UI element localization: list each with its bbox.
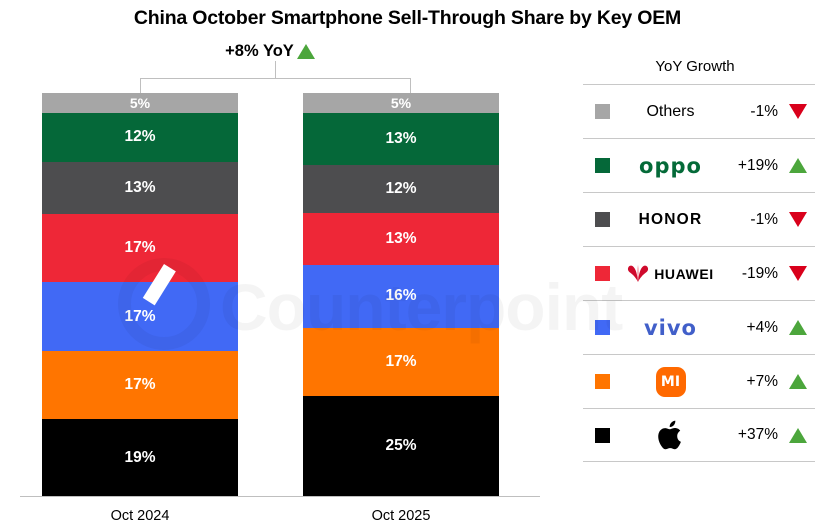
legend-trend-arrow [783,104,813,119]
legend: YoY Growth Others-1%oppo+19%HONOR-1%HUAW… [583,58,815,462]
legend-row-huawei[interactable]: HUAWEI-19% [583,246,815,300]
legend-yoy-growth-value: +19% [731,157,783,175]
legend-brand-label: vivo [644,316,697,340]
triangle-up-icon [789,428,807,443]
legend-row-vivo[interactable]: vivo+4% [583,300,815,354]
bar-segment-label: 17% [124,239,155,257]
legend-color-swatch [595,374,610,389]
bar-segment-label: 25% [385,437,416,455]
bar-segment-label: 12% [385,180,416,198]
legend-brand-label: HUAWEI [654,266,714,282]
legend-row-oppo[interactable]: oppo+19% [583,138,815,192]
legend-brand-label: MI [656,367,686,397]
x-axis-line [20,496,540,497]
legend-color-swatch [595,428,610,443]
huawei-logo-icon: HUAWEI [610,247,731,301]
chart-page: China October Smartphone Sell-Through Sh… [0,0,815,527]
yoy-bracket [140,73,411,93]
apple-mark-icon [656,417,686,453]
bar-segment-label: 5% [391,95,411,111]
bar-segment-honor: 12% [303,165,499,213]
bar-segment-xiaomi: 17% [303,328,499,396]
legend-color-swatch [595,104,610,119]
bar-segment-vivo: 17% [42,282,238,351]
legend-trend-arrow [783,266,813,281]
legend-row-apple[interactable]: +37% [583,408,815,462]
bar-segment-oppo: 12% [42,113,238,161]
triangle-up-icon [789,374,807,389]
triangle-up-icon [789,158,807,173]
bar-segment-label: 17% [385,353,416,371]
legend-color-swatch [595,212,610,227]
bracket-stem [275,61,276,78]
oppo-logo-icon: oppo [610,139,731,193]
yoy-annotation-text: +8% YoY [225,42,294,61]
triangle-up-icon [297,44,315,59]
legend-trend-arrow [783,428,813,443]
bar-segment-huawei: 13% [303,213,499,265]
yoy-annotation-label: +8% YoY [225,42,315,61]
legend-color-swatch [595,158,610,173]
bar-segment-honor: 13% [42,162,238,214]
bar-segment-others: 5% [42,93,238,113]
apple-logo-icon [610,408,731,462]
vivo-logo-icon: vivo [610,301,731,355]
huawei-flower-icon [627,264,649,283]
legend-row-others[interactable]: Others-1% [583,84,815,138]
legend-header: YoY Growth [583,58,815,84]
legend-row-honor[interactable]: HONOR-1% [583,192,815,246]
legend-yoy-growth-value: +4% [731,319,783,337]
bar-segment-xiaomi: 17% [42,351,238,420]
x-axis-label-0: Oct 2024 [42,508,238,524]
bar-segment-label: 16% [385,287,416,305]
bar-column-oct-2024: 5%12%13%17%17%17%19% [42,93,238,496]
legend-yoy-growth-value: +37% [731,426,783,444]
bar-segment-label: 12% [124,128,155,146]
xiaomi-logo-icon: MI [610,355,731,409]
legend-yoy-growth-value: -1% [731,211,783,229]
bar-segment-apple: 25% [303,396,499,496]
bar-column-oct-2025: 5%13%12%13%16%17%25% [303,93,499,496]
legend-brand-label: HONOR [639,211,703,229]
legend-yoy-growth-value: -19% [731,265,783,283]
plot-area: 5%12%13%17%17%17%19% 5%13%12%13%16%17%25… [0,93,540,503]
legend-color-swatch [595,266,610,281]
huawei-mark: HUAWEI [627,264,714,283]
legend-row-xiaomi[interactable]: MI+7% [583,354,815,408]
bar-segment-label: 13% [385,130,416,148]
page-title: China October Smartphone Sell-Through Sh… [0,7,815,30]
bar-segment-vivo: 16% [303,265,499,329]
triangle-down-icon [789,104,807,119]
yoy-annotation: +8% YoY [0,42,540,61]
bar-segment-label: 13% [385,230,416,248]
legend-brand-label: Others [646,103,694,121]
bar-segment-huawei: 17% [42,214,238,283]
legend-trend-arrow [783,212,813,227]
bar-segment-label: 17% [124,376,155,394]
bar-segment-label: 19% [124,449,155,467]
legend-color-swatch [595,320,610,335]
legend-brand-label: oppo [639,154,702,178]
bracket-left-tick [140,78,141,93]
x-axis-label-1: Oct 2025 [303,508,499,524]
legend-rows: Others-1%oppo+19%HONOR-1%HUAWEI-19%vivo+… [583,84,815,462]
triangle-down-icon [789,212,807,227]
bar-segment-apple: 19% [42,419,238,496]
legend-trend-arrow [783,320,813,335]
legend-brand-others: Others [610,85,731,139]
bar-segment-label: 17% [124,308,155,326]
legend-yoy-growth-value: -1% [731,103,783,121]
legend-yoy-growth-value: +7% [731,373,783,391]
honor-logo-icon: HONOR [610,193,731,247]
triangle-down-icon [789,266,807,281]
bar-segment-others: 5% [303,93,499,113]
legend-trend-arrow [783,158,813,173]
bracket-right-tick [410,78,411,93]
triangle-up-icon [789,320,807,335]
legend-trend-arrow [783,374,813,389]
bar-segment-label: 5% [130,95,150,111]
bracket-horizontal [140,78,411,79]
bar-segment-oppo: 13% [303,113,499,165]
bar-segment-label: 13% [124,179,155,197]
